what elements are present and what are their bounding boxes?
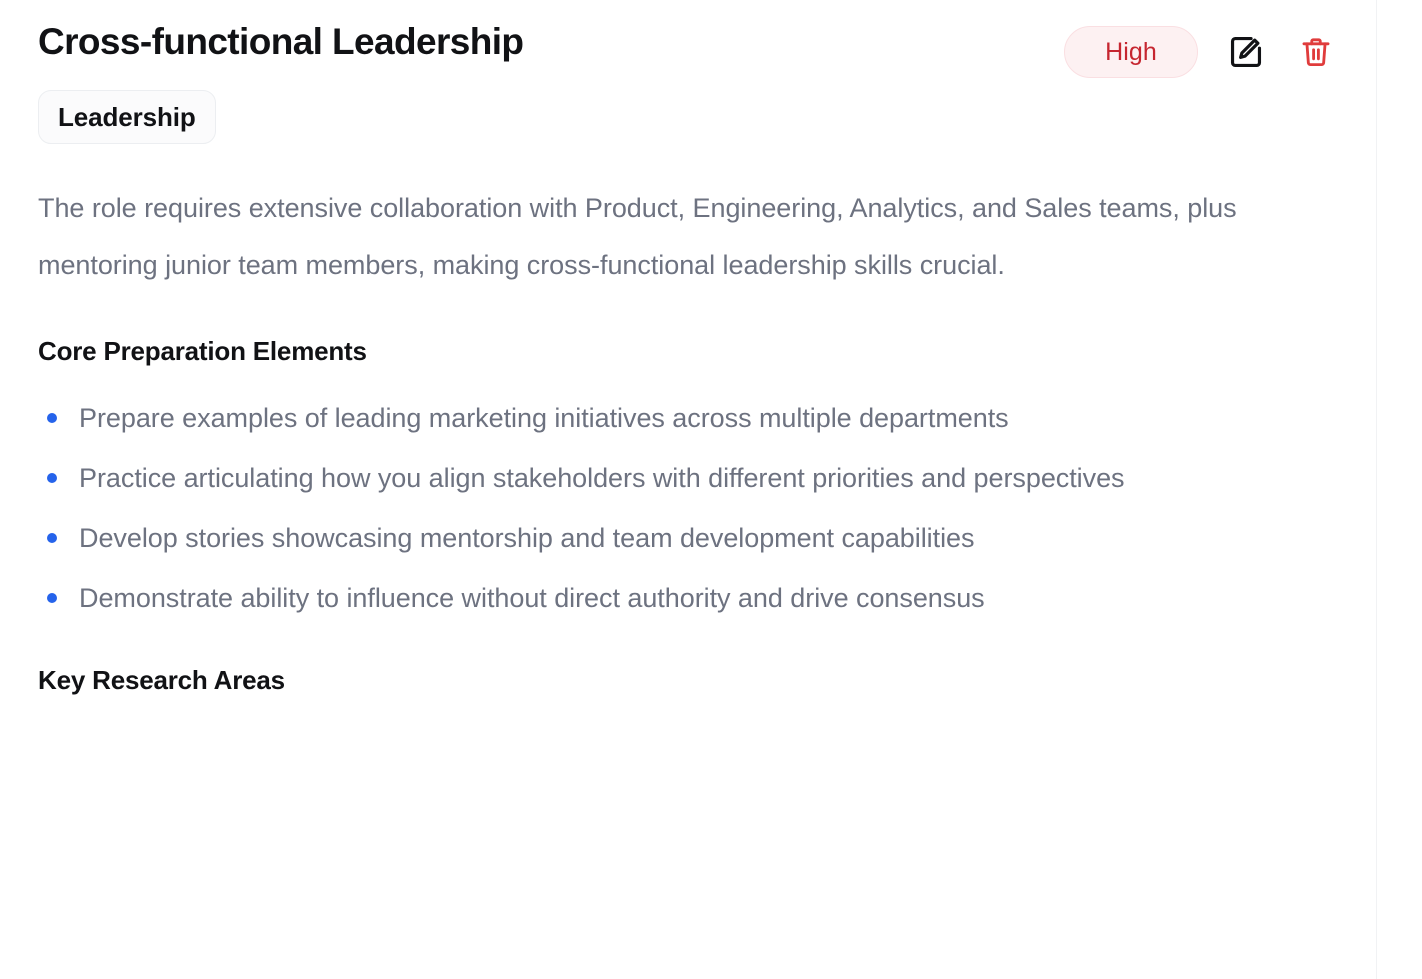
edit-icon bbox=[1227, 33, 1265, 71]
status-badge-priority: High bbox=[1064, 26, 1198, 78]
bullet-dot-icon bbox=[47, 593, 57, 603]
bullet-dot-icon bbox=[47, 473, 57, 483]
list-item: Practice articulating how you align stak… bbox=[38, 453, 1319, 503]
list-item-text: Develop stories showcasing mentorship an… bbox=[79, 523, 974, 553]
panel-divider bbox=[1376, 0, 1377, 979]
section-heading-key-research-areas: Key Research Areas bbox=[38, 665, 1338, 696]
category-chip-row: Leadership bbox=[38, 90, 1338, 144]
trash-icon bbox=[1299, 35, 1333, 69]
list-item-text: Demonstrate ability to influence without… bbox=[79, 583, 985, 613]
section-heading-core-preparation-elements: Core Preparation Elements bbox=[38, 336, 1338, 367]
list-item: Demonstrate ability to influence without… bbox=[38, 573, 1319, 623]
edit-button[interactable] bbox=[1224, 30, 1268, 74]
list-item-text: Practice articulating how you align stak… bbox=[79, 463, 1125, 493]
bullet-dot-icon bbox=[47, 413, 57, 423]
delete-button[interactable] bbox=[1294, 30, 1338, 74]
list-item: Prepare examples of leading marketing in… bbox=[38, 393, 1319, 443]
list-item: Develop stories showcasing mentorship an… bbox=[38, 513, 1319, 563]
panel-content: Cross-functional Leadership High bbox=[0, 0, 1376, 696]
bullet-dot-icon bbox=[47, 533, 57, 543]
page-title: Cross-functional Leadership bbox=[38, 20, 523, 64]
list-item-text: Prepare examples of leading marketing in… bbox=[79, 403, 1009, 433]
header-actions: High bbox=[1064, 20, 1338, 78]
category-chip[interactable]: Leadership bbox=[38, 90, 216, 144]
detail-panel: Cross-functional Leadership High bbox=[0, 0, 1422, 979]
panel-header: Cross-functional Leadership High bbox=[38, 0, 1338, 78]
description-text: The role requires extensive collaboratio… bbox=[38, 180, 1260, 294]
core-preparation-list: Prepare examples of leading marketing in… bbox=[38, 393, 1338, 623]
